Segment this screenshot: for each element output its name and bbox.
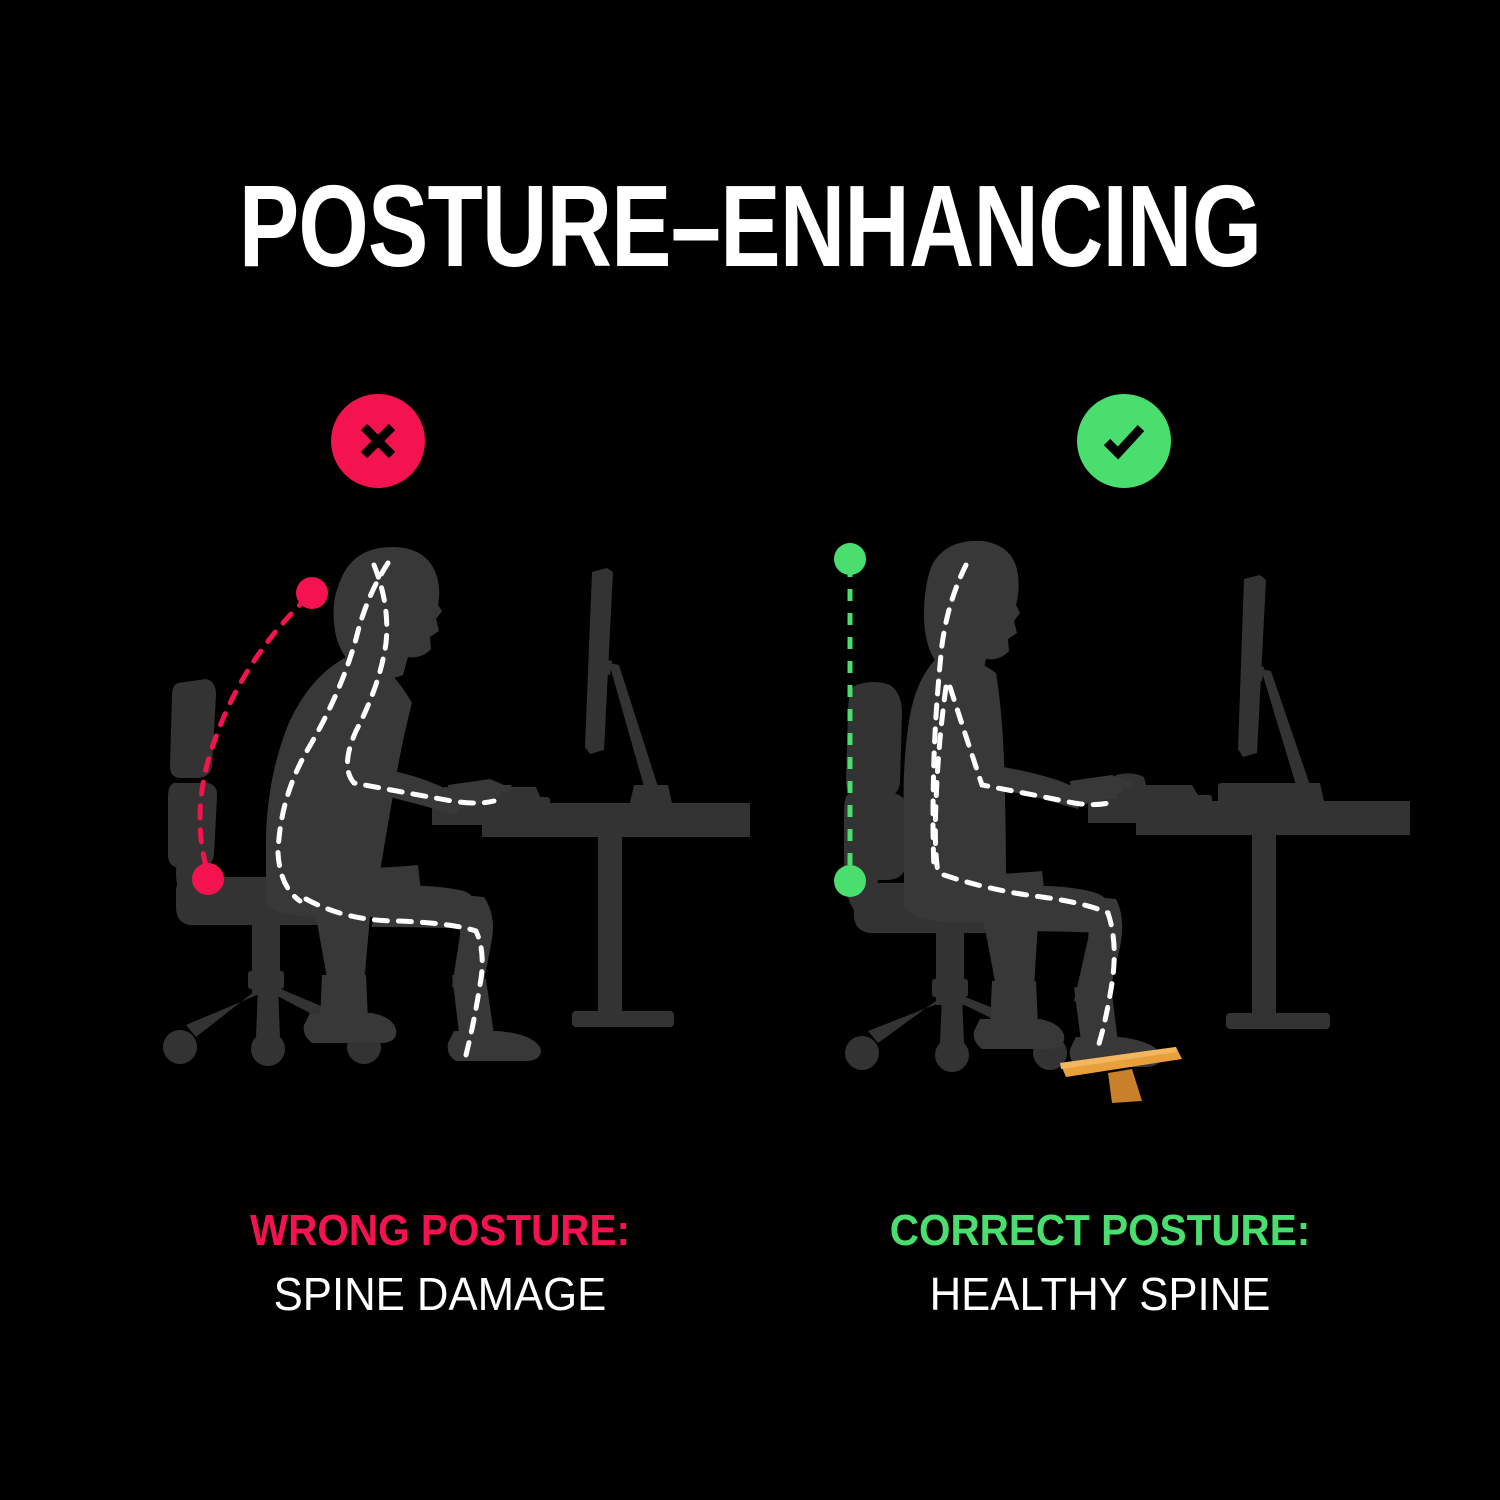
page-title: POSTURE–ENHANCING xyxy=(165,168,1335,284)
caption-heading-correct: CORRECT POSTURE: xyxy=(815,1208,1385,1254)
marker-dot-top-correct xyxy=(834,543,866,575)
caption-correct-posture: CORRECT POSTURE: HEALTHY SPINE xyxy=(790,1208,1410,1318)
x-mark-icon xyxy=(352,415,404,467)
caption-subheading-correct: HEALTHY SPINE xyxy=(806,1270,1395,1318)
illustration-correct-posture xyxy=(820,535,1410,1135)
check-mark-icon xyxy=(1096,413,1152,469)
status-badge-correct xyxy=(1077,394,1171,488)
marker-dot-top-wrong xyxy=(296,577,328,609)
caption-subheading-wrong: SPINE DAMAGE xyxy=(146,1270,735,1318)
infographic-root: POSTURE–ENHANCING xyxy=(0,0,1500,1500)
caption-wrong-posture: WRONG POSTURE: SPINE DAMAGE xyxy=(130,1208,750,1318)
marker-dot-bottom-correct xyxy=(834,865,866,897)
caption-heading-wrong: WRONG POSTURE: xyxy=(155,1208,725,1254)
status-badge-wrong xyxy=(331,394,425,488)
illustration-wrong-posture xyxy=(160,535,750,1135)
desk-and-monitor-correct xyxy=(1088,575,1410,1029)
marker-dot-bottom-wrong xyxy=(192,863,224,895)
